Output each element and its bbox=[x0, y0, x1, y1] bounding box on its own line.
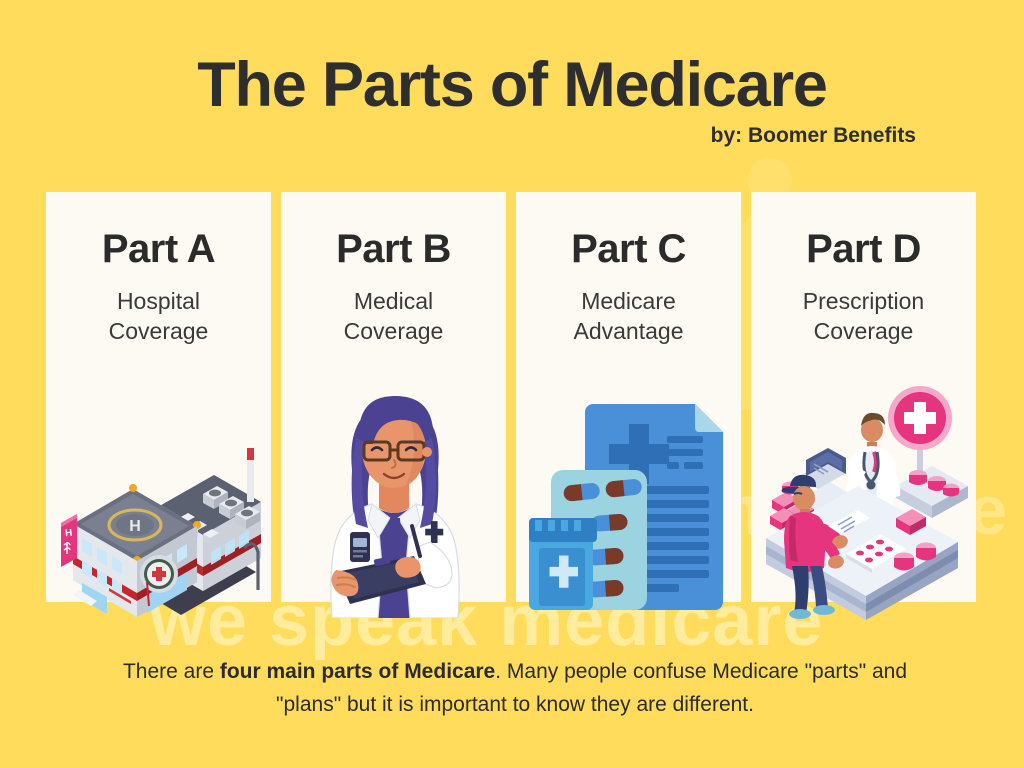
footer-text-bold: four main parts of Medicare bbox=[220, 660, 495, 683]
card-part-c-title: Part C bbox=[516, 228, 741, 270]
page-title: The Parts of Medicare bbox=[0, 52, 1024, 118]
card-part-a-subtitle: Hospital Coverage bbox=[46, 286, 271, 347]
card-part-c[interactable]: Part C Medicare Advantage bbox=[516, 192, 741, 602]
header: The Parts of Medicare by: Boomer Benefit… bbox=[0, 0, 1024, 148]
card-part-b[interactable]: Part B Medical Coverage bbox=[281, 192, 506, 602]
footer-note: There are four main parts of Medicare. M… bbox=[95, 656, 935, 721]
svg-text:H: H bbox=[129, 518, 141, 535]
card-part-b-title: Part B bbox=[281, 228, 506, 270]
medicare-parts-card-row: Part A Hospital Coverage bbox=[46, 192, 976, 602]
byline: by: Boomer Benefits bbox=[0, 124, 916, 148]
pharmacy-counter-icon bbox=[751, 382, 976, 620]
card-part-c-subtitle: Medicare Advantage bbox=[516, 286, 741, 347]
female-doctor-icon bbox=[281, 388, 506, 618]
medical-document-pills-icon bbox=[516, 388, 741, 620]
card-part-b-subtitle: Medical Coverage bbox=[281, 286, 506, 347]
svg-text:H: H bbox=[65, 528, 73, 540]
footer-text-part1: There are bbox=[123, 660, 220, 683]
hospital-building-icon: H bbox=[46, 388, 271, 618]
card-part-a[interactable]: Part A Hospital Coverage bbox=[46, 192, 271, 602]
card-part-d-title: Part D bbox=[751, 228, 976, 270]
card-part-d-subtitle: Prescription Coverage bbox=[751, 286, 976, 347]
card-part-d[interactable]: Part D Prescription Coverage bbox=[751, 192, 976, 602]
card-part-a-title: Part A bbox=[46, 228, 271, 270]
